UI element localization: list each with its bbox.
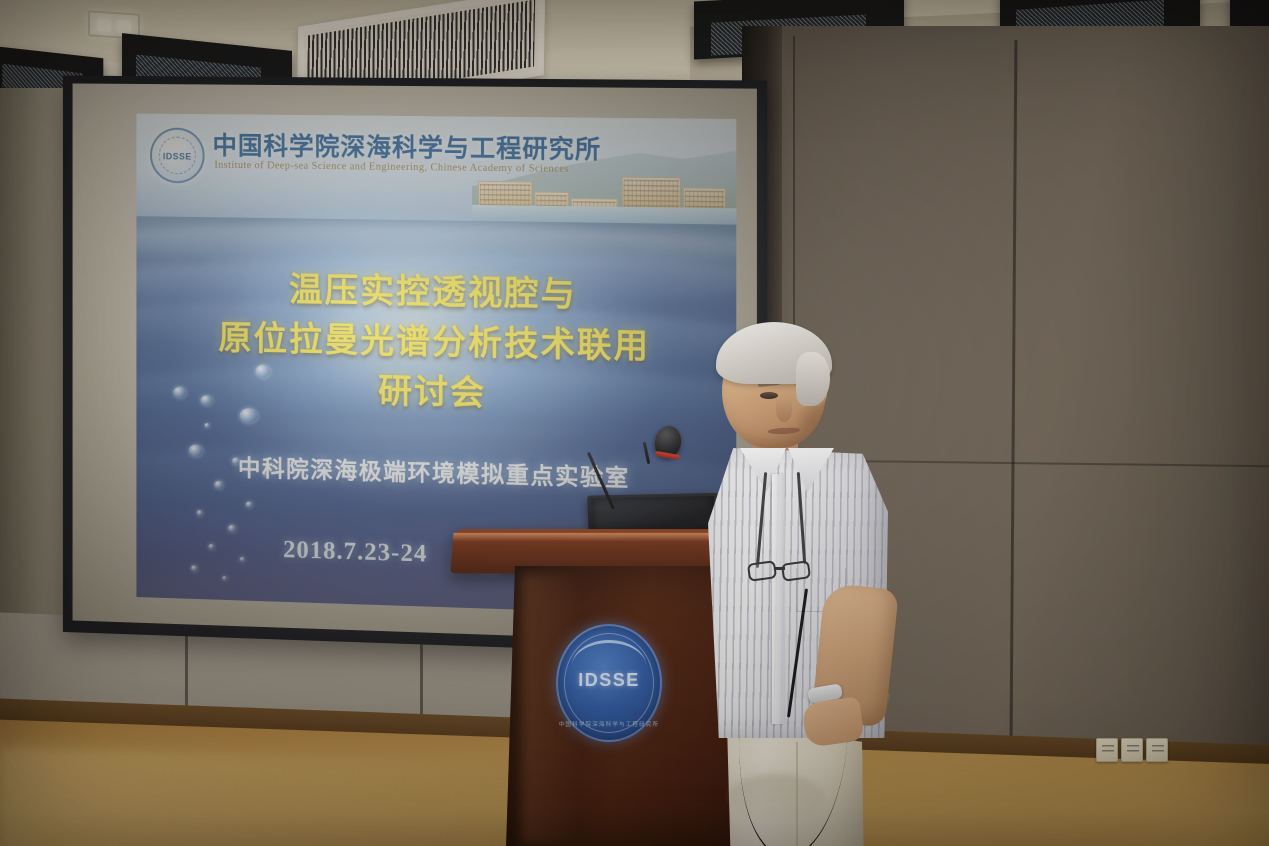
conference-photo: IDSSE 中国科学院深海科学与工程研究所 Institute of Deep-…	[0, 0, 1269, 846]
wall-outlet-group[interactable]	[1096, 738, 1170, 764]
glasses-bridge	[775, 567, 785, 570]
ceiling-speaker	[1230, 0, 1269, 29]
eyeglasses-icon	[748, 560, 812, 586]
logo-text: IDSSE	[152, 151, 203, 161]
idsse-logo-icon: IDSSE	[150, 127, 205, 183]
slide-date: 2018.7.23-24	[283, 536, 427, 568]
mouth	[768, 427, 800, 435]
glasses-lens	[781, 560, 811, 582]
wall-outlet[interactable]	[1096, 738, 1118, 762]
wall-switch[interactable]	[1146, 738, 1168, 762]
nose	[776, 398, 792, 422]
slide-header-band: IDSSE 中国科学院深海科学与工程研究所 Institute of Deep-…	[136, 114, 736, 225]
emblem-subtext: 中国科学院深海科学与工程研究所	[558, 720, 660, 728]
emblem-text: IDSSE	[558, 670, 660, 691]
wall-outlet[interactable]	[1121, 738, 1143, 762]
glasses-lens	[747, 560, 777, 582]
presenter	[700, 322, 910, 846]
idsse-emblem-icon: IDSSE 中国科学院深海科学与工程研究所	[556, 624, 662, 742]
emblem-arc	[572, 640, 646, 666]
cheek-shading	[794, 402, 828, 438]
